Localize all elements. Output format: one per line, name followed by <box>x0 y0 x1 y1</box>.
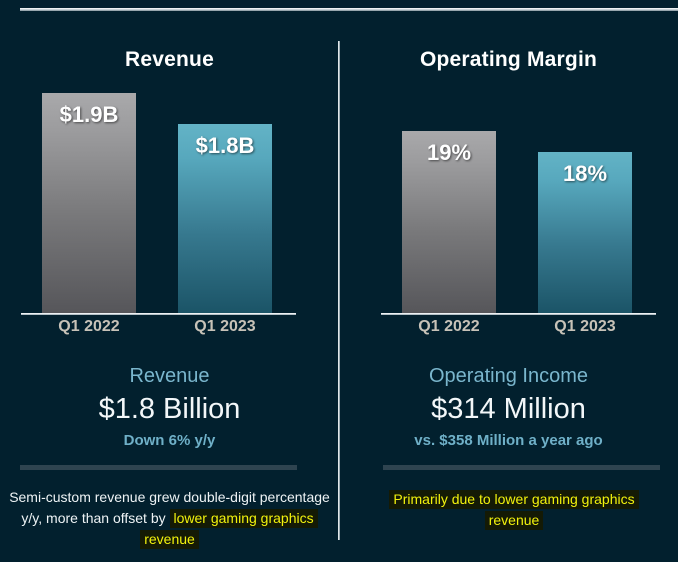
operating-margin-footnote-divider <box>383 465 660 470</box>
revenue-summary-change: Down 6% y/y <box>0 430 339 452</box>
operating-income-summary: Operating Income $314 Million vs. $358 M… <box>339 363 678 452</box>
operating-income-summary-value: $314 Million <box>339 390 678 428</box>
operating-margin-axis-tick-labels: Q1 2022 Q1 2023 <box>381 318 656 342</box>
operating-margin-bar-label-q1-2022: 19% <box>402 140 496 166</box>
revenue-axis-line <box>21 313 296 315</box>
revenue-bar-label-q1-2023: $1.8B <box>178 133 272 159</box>
operating-margin-footnote-highlight: Primarily due to lower gaming graphics r… <box>389 490 638 530</box>
operating-income-summary-change: vs. $358 Million a year ago <box>339 430 678 452</box>
operating-margin-bar-label-q1-2023: 18% <box>538 161 632 187</box>
revenue-bar-chart: $1.9B $1.8B <box>21 80 296 315</box>
operating-margin-bar-q1-2022[interactable]: 19% <box>402 131 496 313</box>
operating-income-summary-label: Operating Income <box>339 363 678 389</box>
slide-canvas: Revenue $1.9B $1.8B Q1 2022 Q1 2023 Reve… <box>0 0 678 562</box>
operating-margin-panel: Operating Margin 19% 18% Q1 2022 Q1 2023… <box>339 0 678 562</box>
revenue-tick-q1-2022: Q1 2022 <box>42 318 136 336</box>
operating-margin-axis-line <box>381 313 656 315</box>
revenue-summary-label: Revenue <box>0 363 339 389</box>
revenue-bar-q1-2023[interactable]: $1.8B <box>178 124 272 313</box>
operating-margin-tick-q1-2022: Q1 2022 <box>402 318 496 336</box>
revenue-footnote-divider <box>20 465 297 470</box>
revenue-panel: Revenue $1.9B $1.8B Q1 2022 Q1 2023 Reve… <box>0 0 339 562</box>
operating-margin-tick-q1-2023: Q1 2023 <box>538 318 632 336</box>
revenue-footnote: Semi-custom revenue grew double-digit pe… <box>8 487 331 550</box>
revenue-bar-q1-2022[interactable]: $1.9B <box>42 93 136 313</box>
revenue-tick-q1-2023: Q1 2023 <box>178 318 272 336</box>
revenue-summary: Revenue $1.8 Billion Down 6% y/y <box>0 363 339 452</box>
revenue-axis-tick-labels: Q1 2022 Q1 2023 <box>21 318 296 342</box>
revenue-summary-value: $1.8 Billion <box>0 390 339 428</box>
revenue-panel-title: Revenue <box>0 48 339 72</box>
operating-margin-bar-chart: 19% 18% <box>381 80 656 315</box>
operating-margin-panel-title: Operating Margin <box>339 48 678 72</box>
operating-margin-bar-q1-2023[interactable]: 18% <box>538 152 632 313</box>
revenue-bar-label-q1-2022: $1.9B <box>42 102 136 128</box>
operating-margin-footnote: Primarily due to lower gaming graphics r… <box>369 489 659 531</box>
